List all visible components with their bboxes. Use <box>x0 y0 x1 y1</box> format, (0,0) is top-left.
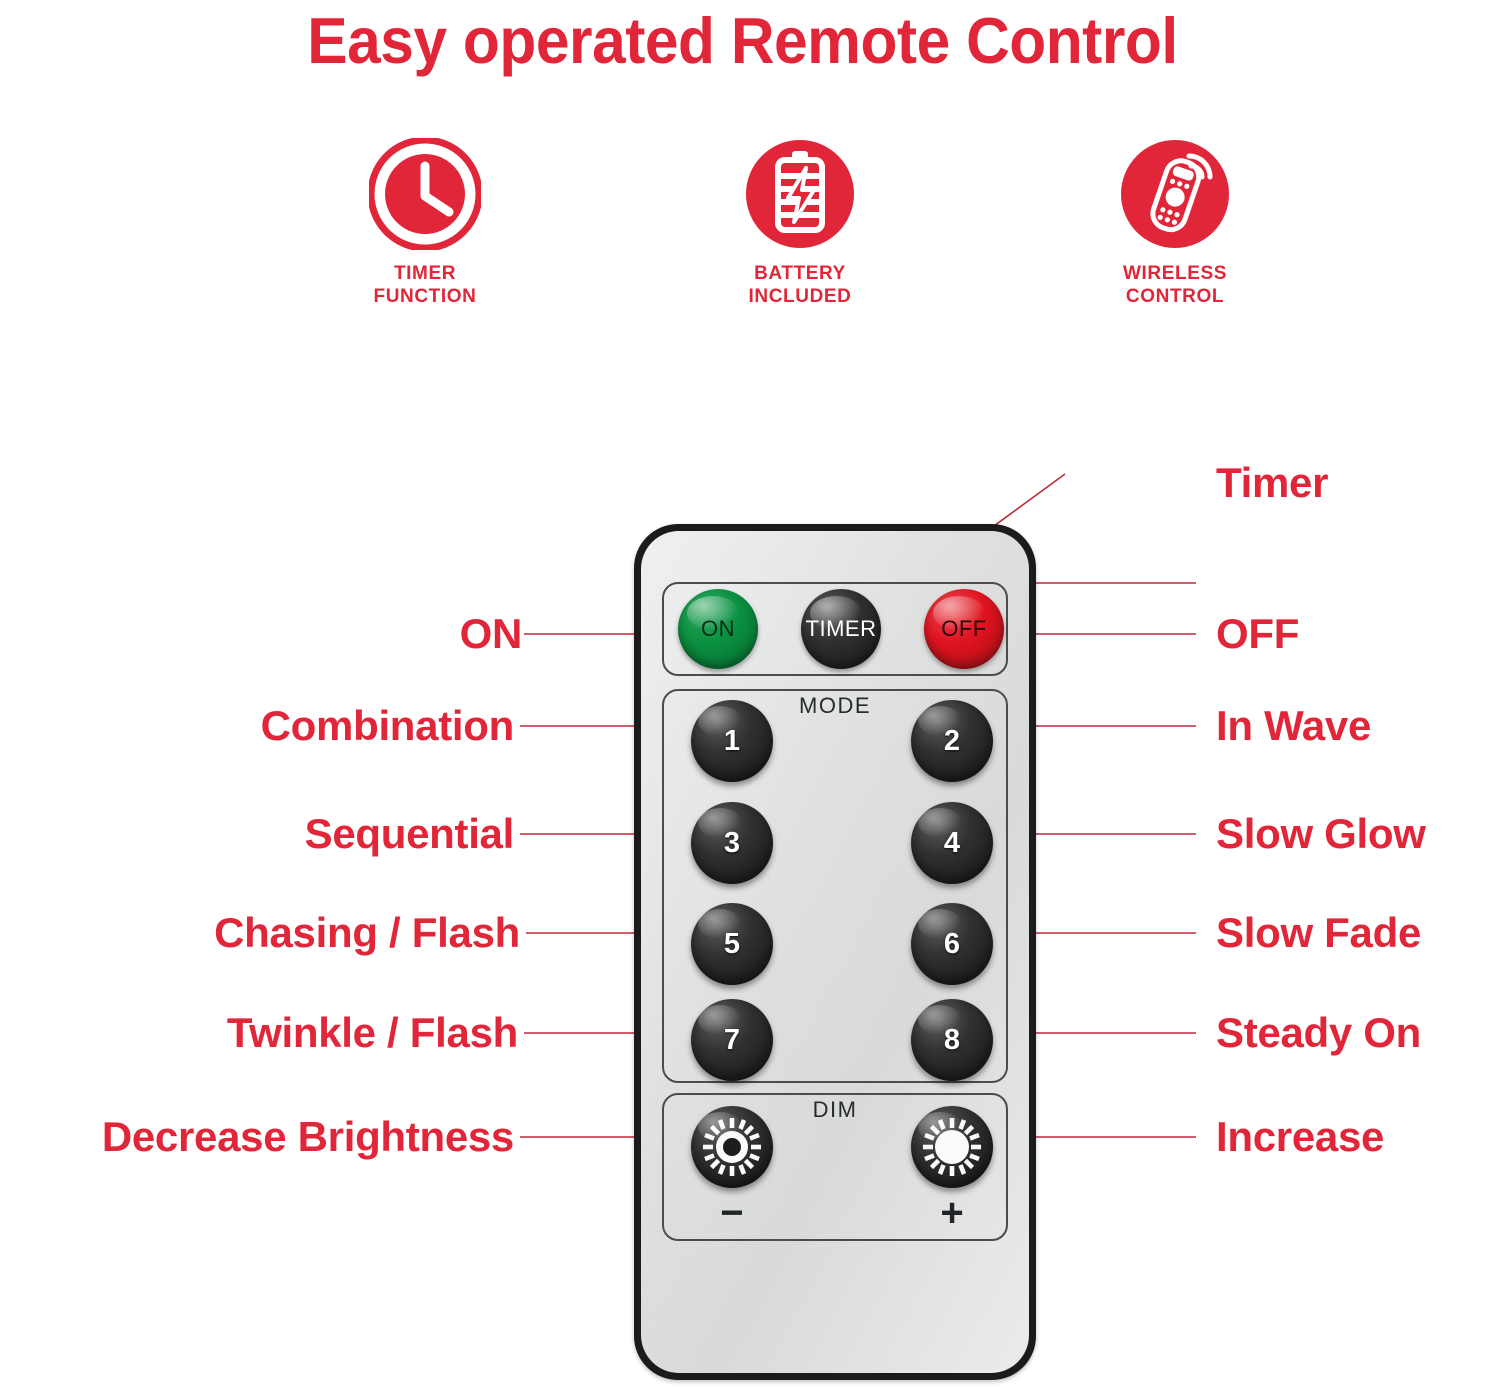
off-button-label: OFF <box>941 616 987 642</box>
mode-button-label: 6 <box>944 928 960 961</box>
on-button-label: ON <box>701 616 735 642</box>
feature-timer-function: TIMER FUNCTION <box>300 138 550 308</box>
timer-button-label: TIMER <box>806 616 877 642</box>
mode-button-1[interactable]: 1 <box>691 700 773 782</box>
off-button[interactable]: OFF <box>924 589 1004 669</box>
mode-button-2[interactable]: 2 <box>911 700 993 782</box>
page-title: Easy operated Remote Control <box>52 2 1433 80</box>
callout-steady-on: Steady On <box>1216 1010 1421 1056</box>
callout-sequential: Sequential <box>44 811 514 857</box>
feature-battery-included: BATTERY INCLUDED <box>675 138 925 308</box>
callout-decrease-brightness: Decrease Brightness <box>6 1114 514 1160</box>
brightness-decrease-button[interactable] <box>691 1106 773 1188</box>
mode-button-label: 8 <box>944 1024 960 1057</box>
mode-button-label: 1 <box>724 725 740 758</box>
dim-plus-sign: + <box>911 1196 993 1230</box>
callout-slow-fade: Slow Fade <box>1216 910 1421 956</box>
callout-twinkle-flash: Twinkle / Flash <box>40 1010 518 1056</box>
mode-button-label: 4 <box>944 827 960 860</box>
callout-slow-glow: Slow Glow <box>1216 811 1426 857</box>
remote-wireless-icon <box>1119 138 1231 250</box>
brightness-low-icon <box>691 1106 773 1188</box>
feature-caption-line1: TIMER <box>374 262 477 285</box>
feature-caption-line1: WIRELESS <box>1123 262 1227 285</box>
remote-control-device: ON TIMER OFF MODE 1 2 3 4 5 6 <box>634 524 1036 1380</box>
feature-caption-line2: INCLUDED <box>749 285 852 308</box>
brightness-increase-button[interactable] <box>911 1106 993 1188</box>
feature-caption-line2: FUNCTION <box>374 285 477 308</box>
on-button[interactable]: ON <box>678 589 758 669</box>
mode-button-4[interactable]: 4 <box>911 802 993 884</box>
brightness-high-icon <box>911 1106 993 1188</box>
feature-caption-line2: CONTROL <box>1123 285 1227 308</box>
mode-button-6[interactable]: 6 <box>911 903 993 985</box>
mode-button-5[interactable]: 5 <box>691 903 773 985</box>
clock-icon <box>369 138 481 250</box>
feature-badge-row: TIMER FUNCTION <box>300 138 1300 318</box>
mode-button-8[interactable]: 8 <box>911 999 993 1081</box>
callout-off: OFF <box>1216 611 1299 657</box>
callout-combination: Combination <box>44 703 514 749</box>
timer-button[interactable]: TIMER <box>801 589 881 669</box>
feature-caption: BATTERY INCLUDED <box>749 262 852 308</box>
callout-in-wave: In Wave <box>1216 703 1371 749</box>
mode-button-label: 2 <box>944 725 960 758</box>
feature-wireless-control: WIRELESS CONTROL <box>1050 138 1300 308</box>
mode-button-label: 7 <box>724 1024 740 1057</box>
mode-button-3[interactable]: 3 <box>691 802 773 884</box>
callout-timer: Timer <box>1216 460 1328 506</box>
infographic-canvas: Easy operated Remote Control TIMER FUNCT… <box>0 0 1485 1388</box>
feature-caption: TIMER FUNCTION <box>374 262 477 308</box>
callout-increase: Increase <box>1216 1114 1384 1160</box>
feature-caption-line1: BATTERY <box>749 262 852 285</box>
feature-caption: WIRELESS CONTROL <box>1123 262 1227 308</box>
remote-faceplate: ON TIMER OFF MODE 1 2 3 4 5 6 <box>641 531 1029 1373</box>
battery-icon <box>744 138 856 250</box>
mode-button-label: 5 <box>724 928 740 961</box>
dim-minus-sign: − <box>691 1196 773 1230</box>
mode-button-7[interactable]: 7 <box>691 999 773 1081</box>
callout-on: ON <box>44 611 522 657</box>
callout-chasing-flash: Chasing / Flash <box>40 910 520 956</box>
mode-button-label: 3 <box>724 827 740 860</box>
